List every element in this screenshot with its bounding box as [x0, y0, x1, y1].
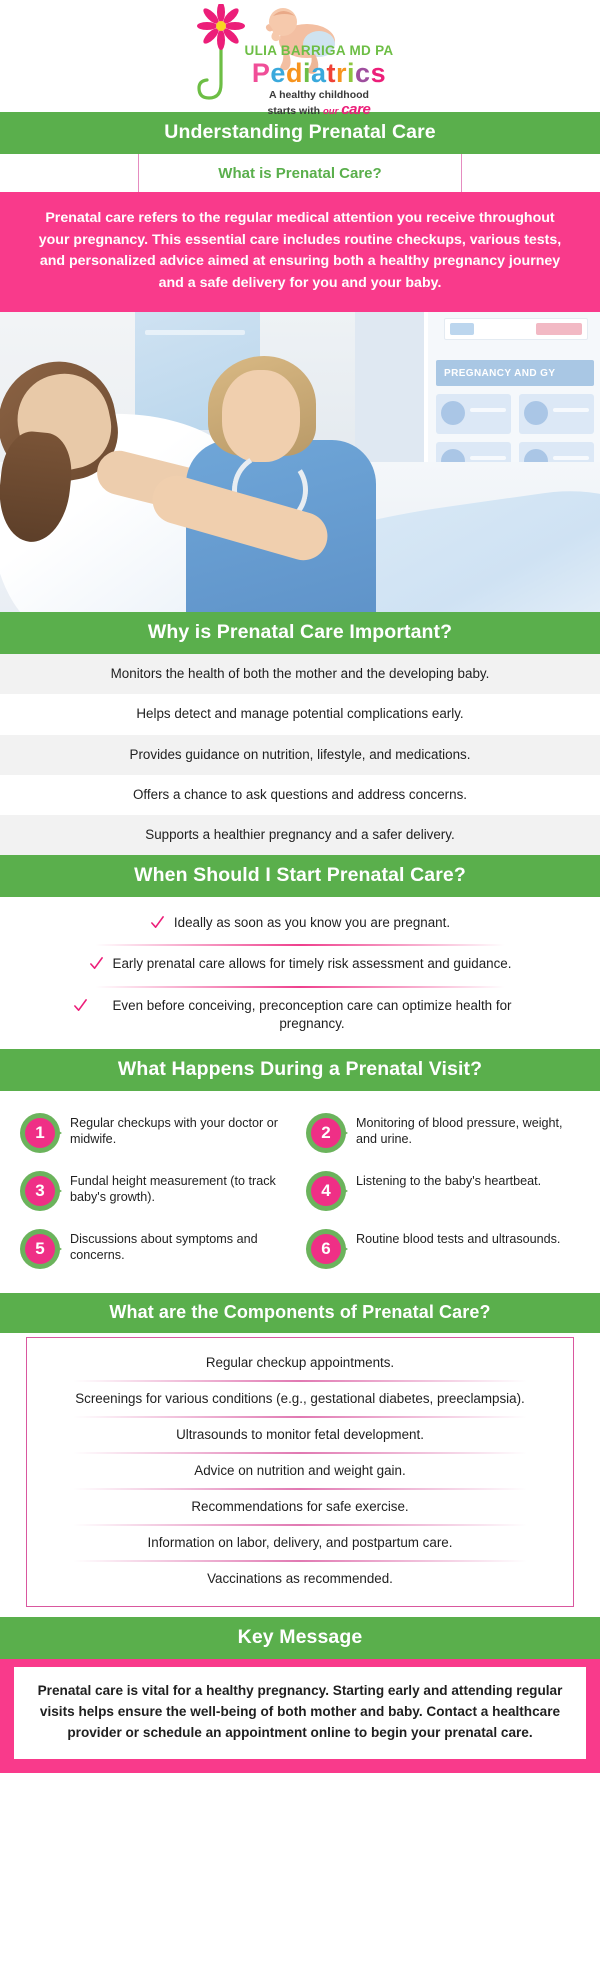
section-heading-key-message: Key Message — [0, 1617, 600, 1659]
badge-number: 3 — [25, 1176, 55, 1206]
when-list-item-text: Ideally as soon as you know you are preg… — [174, 914, 450, 933]
logo-tagline-our: our — [323, 106, 338, 117]
page-title: Understanding Prenatal Care — [0, 112, 600, 154]
why-list: Monitors the health of both the mother a… — [0, 654, 600, 854]
when-list-item-text: Early prenatal care allows for timely ri… — [113, 955, 512, 974]
when-list-item: Even before conceiving, preconception ca… — [0, 988, 600, 1043]
visit-item: 2 Monitoring of blood pressure, weight, … — [300, 1113, 586, 1153]
components-item: Recommendations for safe exercise. — [43, 1490, 557, 1524]
section-tab-row: What is Prenatal Care? — [0, 154, 600, 192]
visit-item-text: Listening to the baby's heartbeat. — [356, 1171, 541, 1190]
section-heading-why: Why is Prenatal Care Important? — [0, 612, 600, 654]
why-list-item: Monitors the health of both the mother a… — [0, 654, 600, 694]
logo-tagline-care: care — [341, 101, 370, 118]
section-heading-when: When Should I Start Prenatal Care? — [0, 855, 600, 897]
why-list-item: Helps detect and manage potential compli… — [0, 694, 600, 734]
checkmark-icon — [150, 915, 165, 936]
number-badge: 3 — [20, 1171, 60, 1211]
brand-logo: ULIA BARRIGA MD PA Pediatrics A healthy … — [0, 0, 600, 112]
logo-practice-name: ULIA BARRIGA MD PA — [221, 44, 417, 58]
visit-grid: 1 Regular checkups with your doctor or m… — [0, 1091, 600, 1293]
number-badge: 1 — [20, 1113, 60, 1153]
visit-item: 5 Discussions about symptoms and concern… — [14, 1229, 300, 1269]
photo-chart-cell — [436, 394, 511, 434]
key-message-text: Prenatal care is vital for a healthy pre… — [14, 1667, 586, 1759]
components-item: Advice on nutrition and weight gain. — [43, 1454, 557, 1488]
components-box: Regular checkup appointments. Screenings… — [26, 1337, 574, 1608]
when-list: Ideally as soon as you know you are preg… — [0, 897, 600, 1049]
checkmark-icon — [89, 956, 104, 977]
badge-number: 4 — [311, 1176, 341, 1206]
why-list-item: Supports a healthier pregnancy and a saf… — [0, 815, 600, 855]
checkmark-icon — [73, 998, 88, 1019]
number-badge: 2 — [306, 1113, 346, 1153]
logo-tagline-line1: A healthy childhood — [221, 89, 417, 101]
visit-item-text: Discussions about symptoms and concerns. — [70, 1229, 300, 1264]
when-list-item: Ideally as soon as you know you are preg… — [0, 905, 600, 945]
visit-item: 6 Routine blood tests and ultrasounds. — [300, 1229, 586, 1269]
visit-item-text: Monitoring of blood pressure, weight, an… — [356, 1113, 586, 1148]
photo-chart-cell — [519, 394, 594, 434]
number-badge: 5 — [20, 1229, 60, 1269]
components-item: Screenings for various conditions (e.g.,… — [43, 1382, 557, 1416]
when-list-item: Early prenatal care allows for timely ri… — [0, 946, 600, 986]
components-item: Vaccinations as recommended. — [43, 1562, 557, 1596]
number-badge: 4 — [306, 1171, 346, 1211]
why-list-item: Provides guidance on nutrition, lifestyl… — [0, 735, 600, 775]
prenatal-exam-photo: PREGNANCY AND GY — [0, 312, 600, 612]
visit-item: 3 Fundal height measurement (to track ba… — [14, 1171, 300, 1211]
badge-number: 5 — [25, 1234, 55, 1264]
infographic-page: ULIA BARRIGA MD PA Pediatrics A healthy … — [0, 0, 600, 1975]
visit-item-text: Fundal height measurement (to track baby… — [70, 1171, 300, 1206]
badge-number: 1 — [25, 1118, 55, 1148]
intro-paragraph: Prenatal care refers to the regular medi… — [0, 192, 600, 312]
logo-tagline: A healthy childhood starts with our care — [221, 89, 417, 118]
logo-wordmark: Pediatrics — [221, 59, 417, 87]
key-message-band: Prenatal care is vital for a healthy pre… — [0, 1659, 600, 1773]
photo-chart-topbar — [444, 318, 588, 340]
photo-doctor-head — [222, 370, 300, 462]
visit-item: 1 Regular checkups with your doctor or m… — [14, 1113, 300, 1153]
number-badge: 6 — [306, 1229, 346, 1269]
section-heading-visit: What Happens During a Prenatal Visit? — [0, 1049, 600, 1091]
logo-tagline-line2: starts with our care — [221, 101, 417, 118]
visit-item: 4 Listening to the baby's heartbeat. — [300, 1171, 586, 1211]
components-item: Ultrasounds to monitor fetal development… — [43, 1418, 557, 1452]
photo-chart-title: PREGNANCY AND GY — [436, 360, 594, 386]
why-list-item: Offers a chance to ask questions and add… — [0, 775, 600, 815]
components-item: Information on labor, delivery, and post… — [43, 1526, 557, 1560]
tab-label: What is Prenatal Care? — [218, 165, 381, 182]
tab-what-is-prenatal-care[interactable]: What is Prenatal Care? — [138, 154, 462, 192]
tab-spacer-right — [462, 154, 600, 192]
visit-item-text: Regular checkups with your doctor or mid… — [70, 1113, 300, 1148]
section-heading-components: What are the Components of Prenatal Care… — [0, 1293, 600, 1333]
components-item: Regular checkup appointments. — [43, 1346, 557, 1380]
components-wrap: Regular checkup appointments. Screenings… — [0, 1333, 600, 1618]
badge-number: 2 — [311, 1118, 341, 1148]
when-list-item-text: Even before conceiving, preconception ca… — [97, 997, 527, 1034]
badge-number: 6 — [311, 1234, 341, 1264]
visit-item-text: Routine blood tests and ultrasounds. — [356, 1229, 560, 1248]
tab-spacer-left — [0, 154, 138, 192]
